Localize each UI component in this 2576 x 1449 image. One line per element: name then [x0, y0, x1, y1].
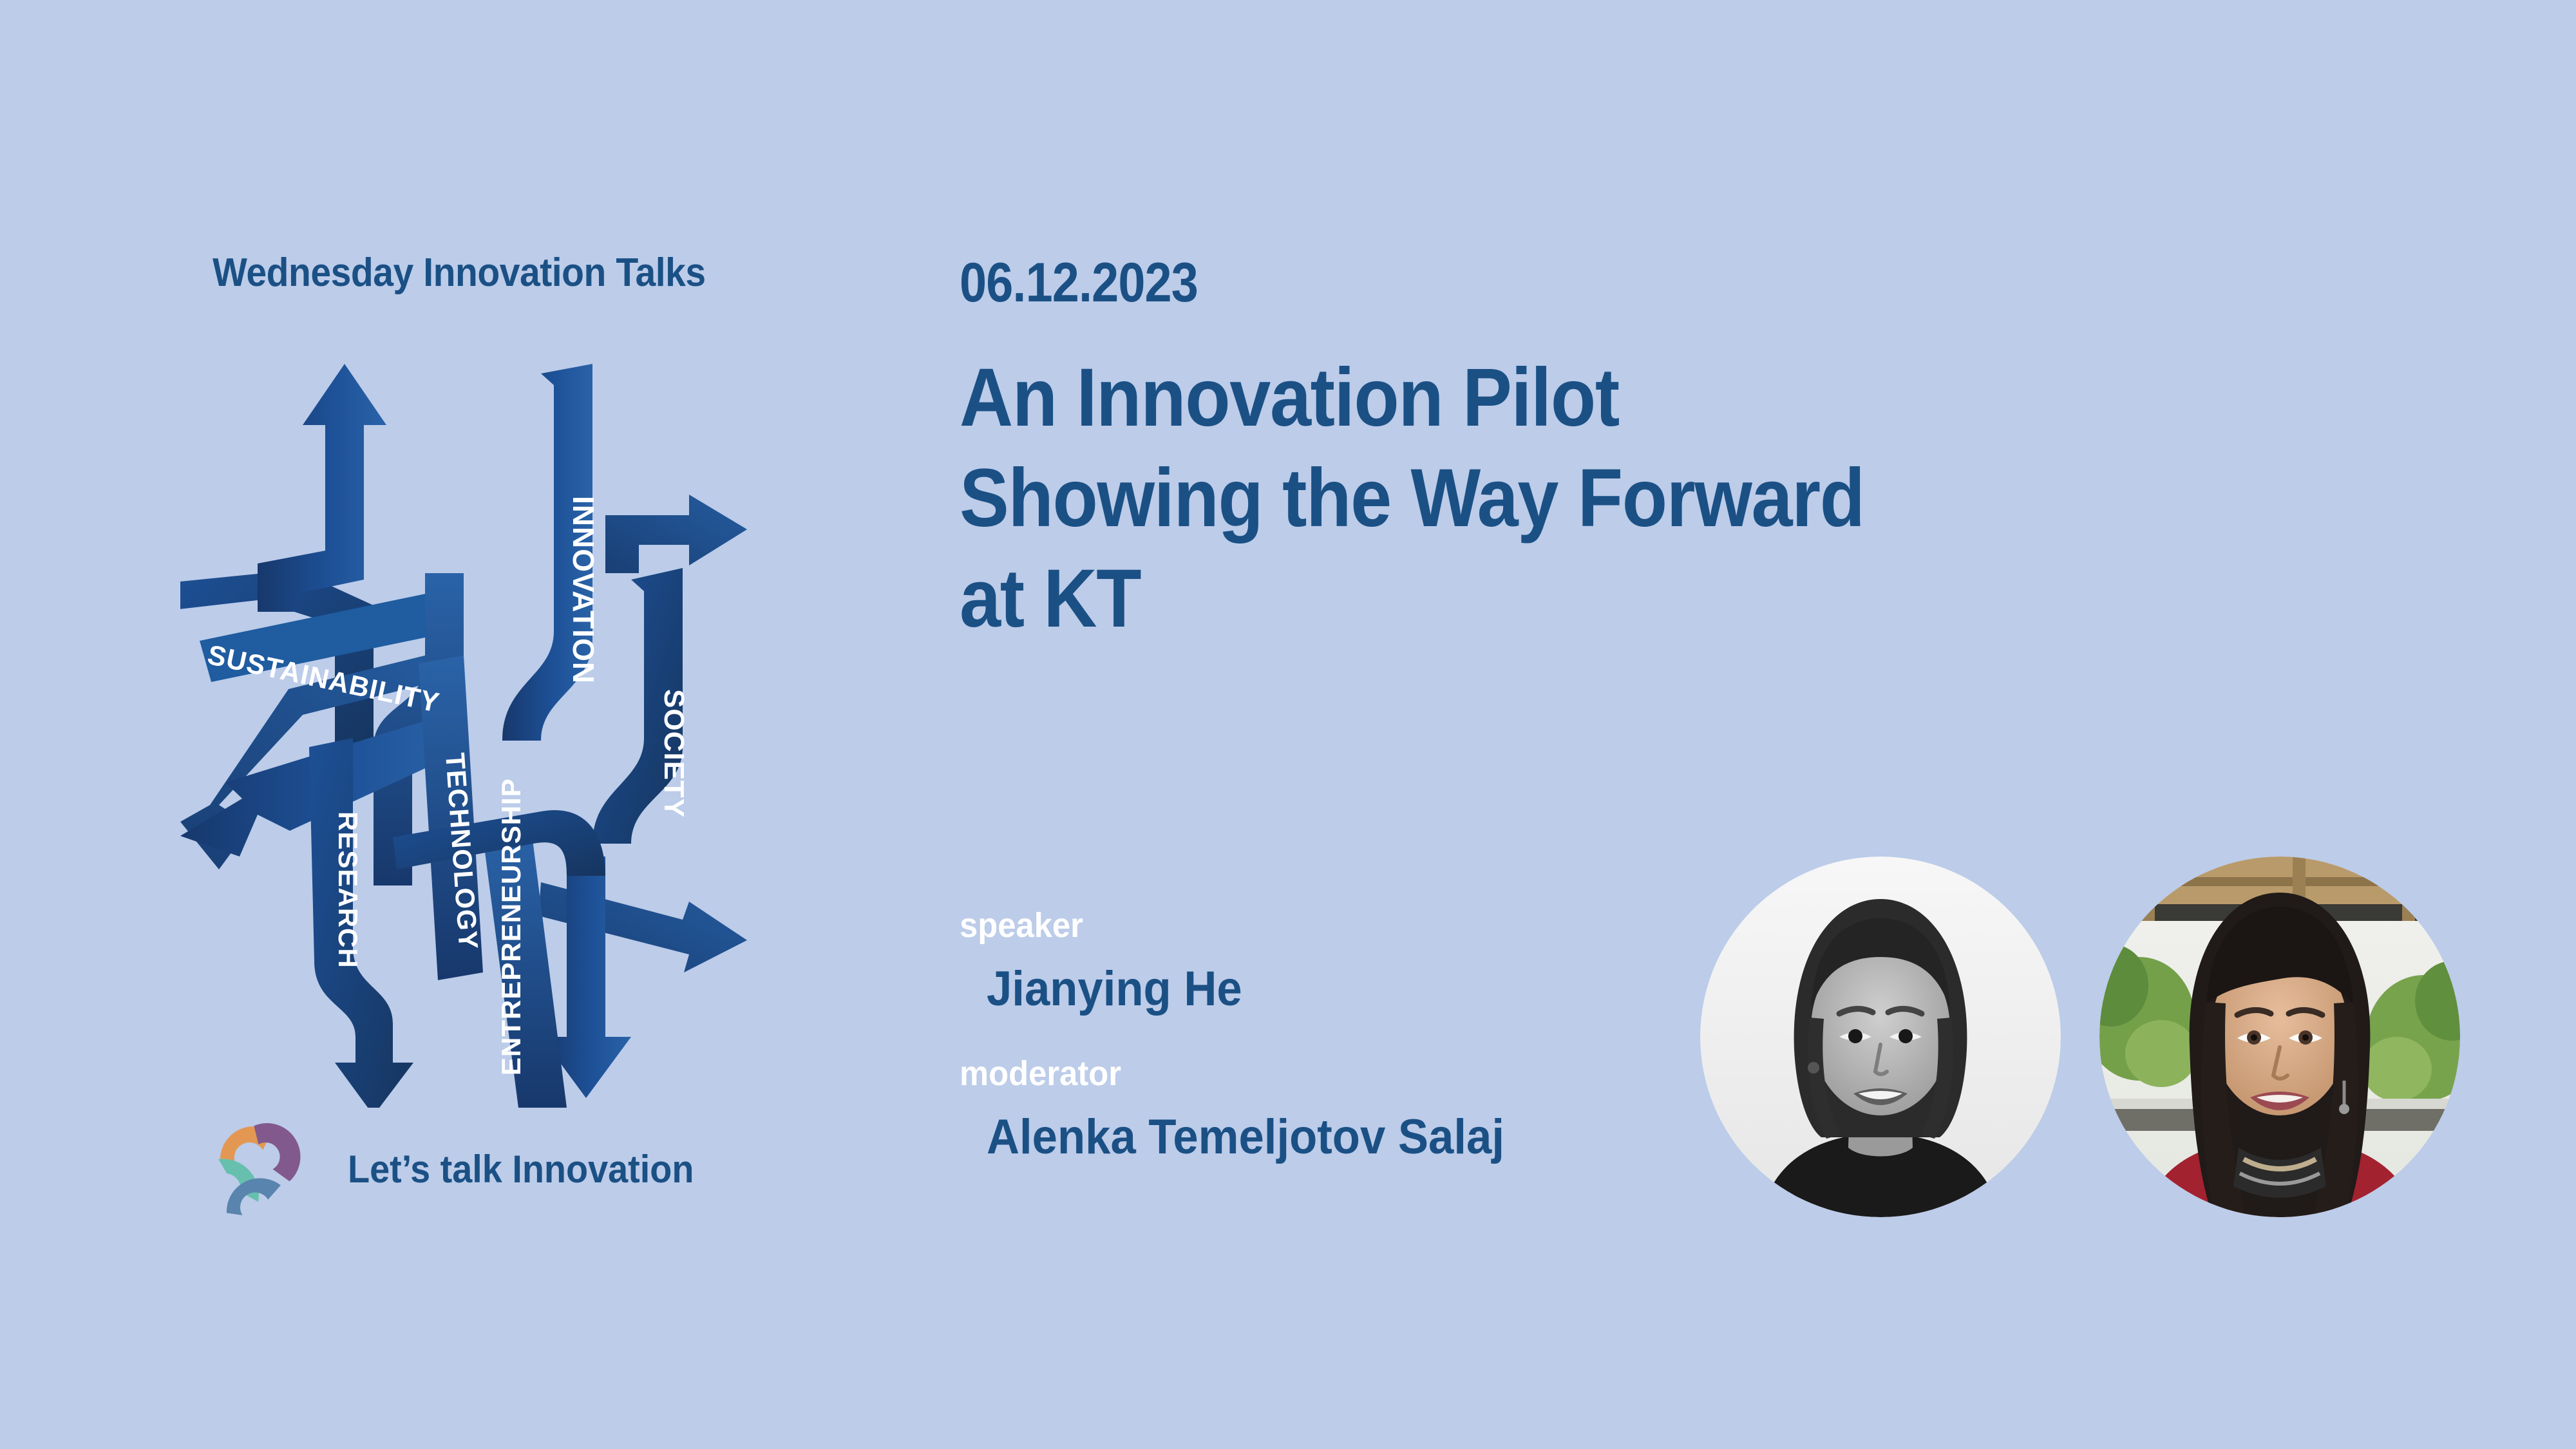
- left-branding-column: Wednesday Innovation Talks: [0, 0, 837, 1449]
- arrow-label-innovation: INNOVATION: [567, 496, 600, 684]
- talk-title-line-1: An Innovation Pilot: [960, 348, 2351, 448]
- arrow-label-entrepreneurship: ENTREPRENEURSHIP: [496, 778, 526, 1075]
- lets-talk-innovation-pinwheel-logo: [213, 1117, 309, 1220]
- right-content-column: 06.12.2023 An Innovation Pilot Showing t…: [960, 0, 2576, 1449]
- speaker-avatar: [1700, 857, 2061, 1217]
- arrow-label-research: RESEARCH: [333, 811, 363, 969]
- talk-title-line-3: at KT: [960, 549, 2351, 649]
- talk-title-line-2: Showing the Way Forward: [960, 448, 2351, 549]
- event-announcement-banner: Wednesday Innovation Talks: [0, 0, 2576, 1449]
- moderator-avatar: [2099, 857, 2460, 1217]
- series-title: Wednesday Innovation Talks: [213, 250, 706, 296]
- brand-footer: Let’s talk Innovation: [213, 1114, 720, 1224]
- event-date: 06.12.2023: [960, 251, 1198, 315]
- talk-title: An Innovation Pilot Showing the Way Forw…: [960, 348, 2351, 649]
- arrow-label-society: SOCIETY: [658, 689, 690, 818]
- interwoven-arrows-illustration: INNOVATION SOCIETY SUSTAINABILITY TECHNO…: [180, 303, 773, 1108]
- series-tagline: Let’s talk Innovation: [348, 1147, 694, 1191]
- portrait-group: [1700, 857, 2460, 1224]
